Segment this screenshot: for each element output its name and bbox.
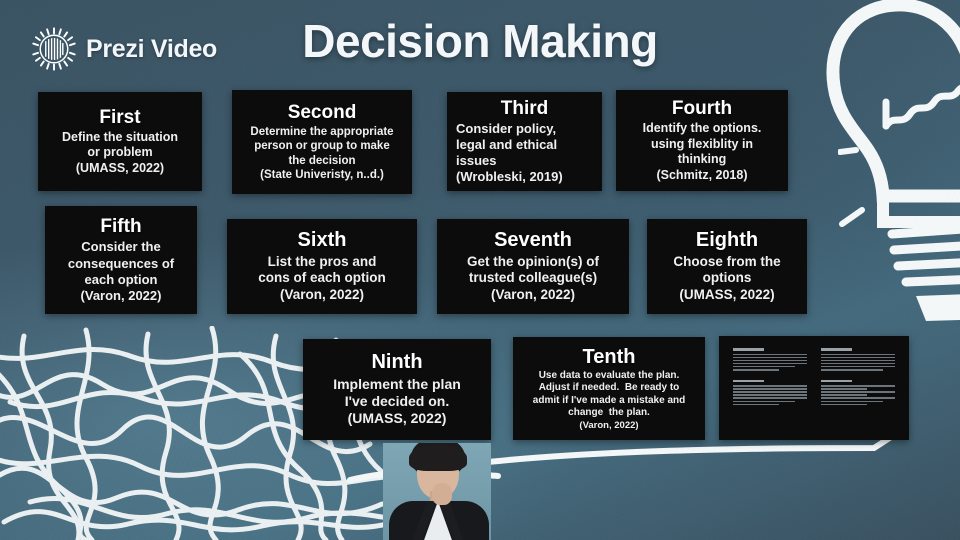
card-title: Seventh <box>446 229 620 251</box>
card-citation: (Varon, 2022) <box>446 287 620 304</box>
card-citation: (UMASS, 2022) <box>656 287 798 304</box>
document-text-line <box>821 363 895 365</box>
card-citation: (UMASS, 2022) <box>47 161 193 177</box>
document-text-line <box>733 385 807 387</box>
document-column-right <box>821 348 895 428</box>
card-body: Implement the planI've decided on. <box>312 376 482 411</box>
card-citation: (Schmitz, 2018) <box>625 168 779 184</box>
card-citation: (Varon, 2022) <box>522 420 696 432</box>
step-card-third[interactable]: Third Consider policy,legal and ethicali… <box>447 92 602 191</box>
document-text-line <box>821 394 867 396</box>
document-text-line <box>733 363 807 365</box>
page-title: Decision Making <box>0 14 960 68</box>
document-paragraph <box>821 380 895 406</box>
step-card-fourth[interactable]: Fourth Identify the options.using flexib… <box>616 90 788 191</box>
card-title: Third <box>456 98 593 119</box>
card-citation: (State Univeristy, n..d.) <box>241 168 403 182</box>
card-body: Define the situationor problem <box>47 130 193 161</box>
document-text-line <box>733 357 807 359</box>
step-card-fifth[interactable]: Fifth Consider theconsequences ofeach op… <box>45 206 197 314</box>
card-body: Identify the options.using flexiblity in… <box>625 121 779 168</box>
document-text-line <box>821 401 883 403</box>
document-text-line <box>733 404 779 406</box>
card-title: First <box>47 107 193 128</box>
step-card-eighth[interactable]: Eighth Choose from theoptions (UMASS, 20… <box>647 219 807 314</box>
document-text-line <box>821 404 867 406</box>
references-document-thumbnail[interactable] <box>719 336 909 440</box>
card-body: List the pros andcons of each option <box>236 254 408 287</box>
presenter-webcam-overlay[interactable] <box>383 443 491 540</box>
card-title: Ninth <box>312 351 482 373</box>
card-title: Tenth <box>522 346 696 368</box>
document-heading-bar <box>821 348 852 351</box>
card-body: Use data to evaluate the plan.Adjust if … <box>522 370 696 420</box>
document-text-line <box>821 366 895 368</box>
document-text-line <box>821 388 867 390</box>
card-title: Sixth <box>236 229 408 251</box>
card-body: Get the opinion(s) oftrusted colleague(s… <box>446 254 620 287</box>
step-card-first[interactable]: First Define the situationor problem (UM… <box>38 92 202 191</box>
step-card-sixth[interactable]: Sixth List the pros andcons of each opti… <box>227 219 417 314</box>
presenter-hair-front <box>409 445 467 471</box>
document-text-line <box>821 360 895 362</box>
document-paragraph <box>821 348 895 371</box>
document-heading-bar <box>733 348 764 351</box>
document-text-line <box>733 397 807 399</box>
slide-header: Prezi Video Decision Making <box>0 0 960 88</box>
document-text-line <box>821 369 883 371</box>
document-text-line <box>733 388 807 390</box>
card-citation: (UMASS, 2022) <box>312 410 482 427</box>
card-citation: (Wrobleski, 2019) <box>456 169 593 185</box>
document-paragraph <box>733 348 807 371</box>
document-text-line <box>733 354 807 356</box>
card-body: Choose from theoptions <box>656 254 798 287</box>
document-text-line <box>733 391 807 393</box>
document-columns <box>733 348 895 428</box>
document-text-line <box>821 385 895 387</box>
document-text-line <box>733 360 807 362</box>
step-card-second[interactable]: Second Determine the appropriateperson o… <box>232 90 412 194</box>
document-text-line <box>821 357 895 359</box>
card-title: Fifth <box>54 216 188 237</box>
card-title: Second <box>241 102 403 123</box>
slide-canvas: Prezi Video Decision Making First Define… <box>0 0 960 540</box>
card-citation: (Varon, 2022) <box>54 288 188 304</box>
step-card-seventh[interactable]: Seventh Get the opinion(s) oftrusted col… <box>437 219 629 314</box>
card-body: Consider theconsequences ofeach option <box>54 239 188 287</box>
document-paragraph <box>733 380 807 406</box>
step-card-ninth[interactable]: Ninth Implement the planI've decided on.… <box>303 339 491 440</box>
document-heading-bar <box>733 380 764 383</box>
card-title: Eighth <box>656 229 798 251</box>
card-citation: (Varon, 2022) <box>236 287 408 304</box>
card-body: Consider policy,legal and ethicalissues <box>456 121 593 169</box>
document-text-line <box>821 391 895 393</box>
document-heading-bar <box>821 380 852 383</box>
document-text-line <box>733 401 795 403</box>
document-text-line <box>733 394 807 396</box>
document-text-line <box>821 397 895 399</box>
presenter-hand <box>432 483 452 505</box>
document-text-line <box>733 369 779 371</box>
document-text-line <box>733 366 795 368</box>
card-title: Fourth <box>625 98 779 119</box>
document-text-line <box>821 354 895 356</box>
card-body: Determine the appropriateperson or group… <box>241 125 403 168</box>
document-column-left <box>733 348 807 428</box>
step-card-tenth[interactable]: Tenth Use data to evaluate the plan.Adju… <box>513 337 705 440</box>
